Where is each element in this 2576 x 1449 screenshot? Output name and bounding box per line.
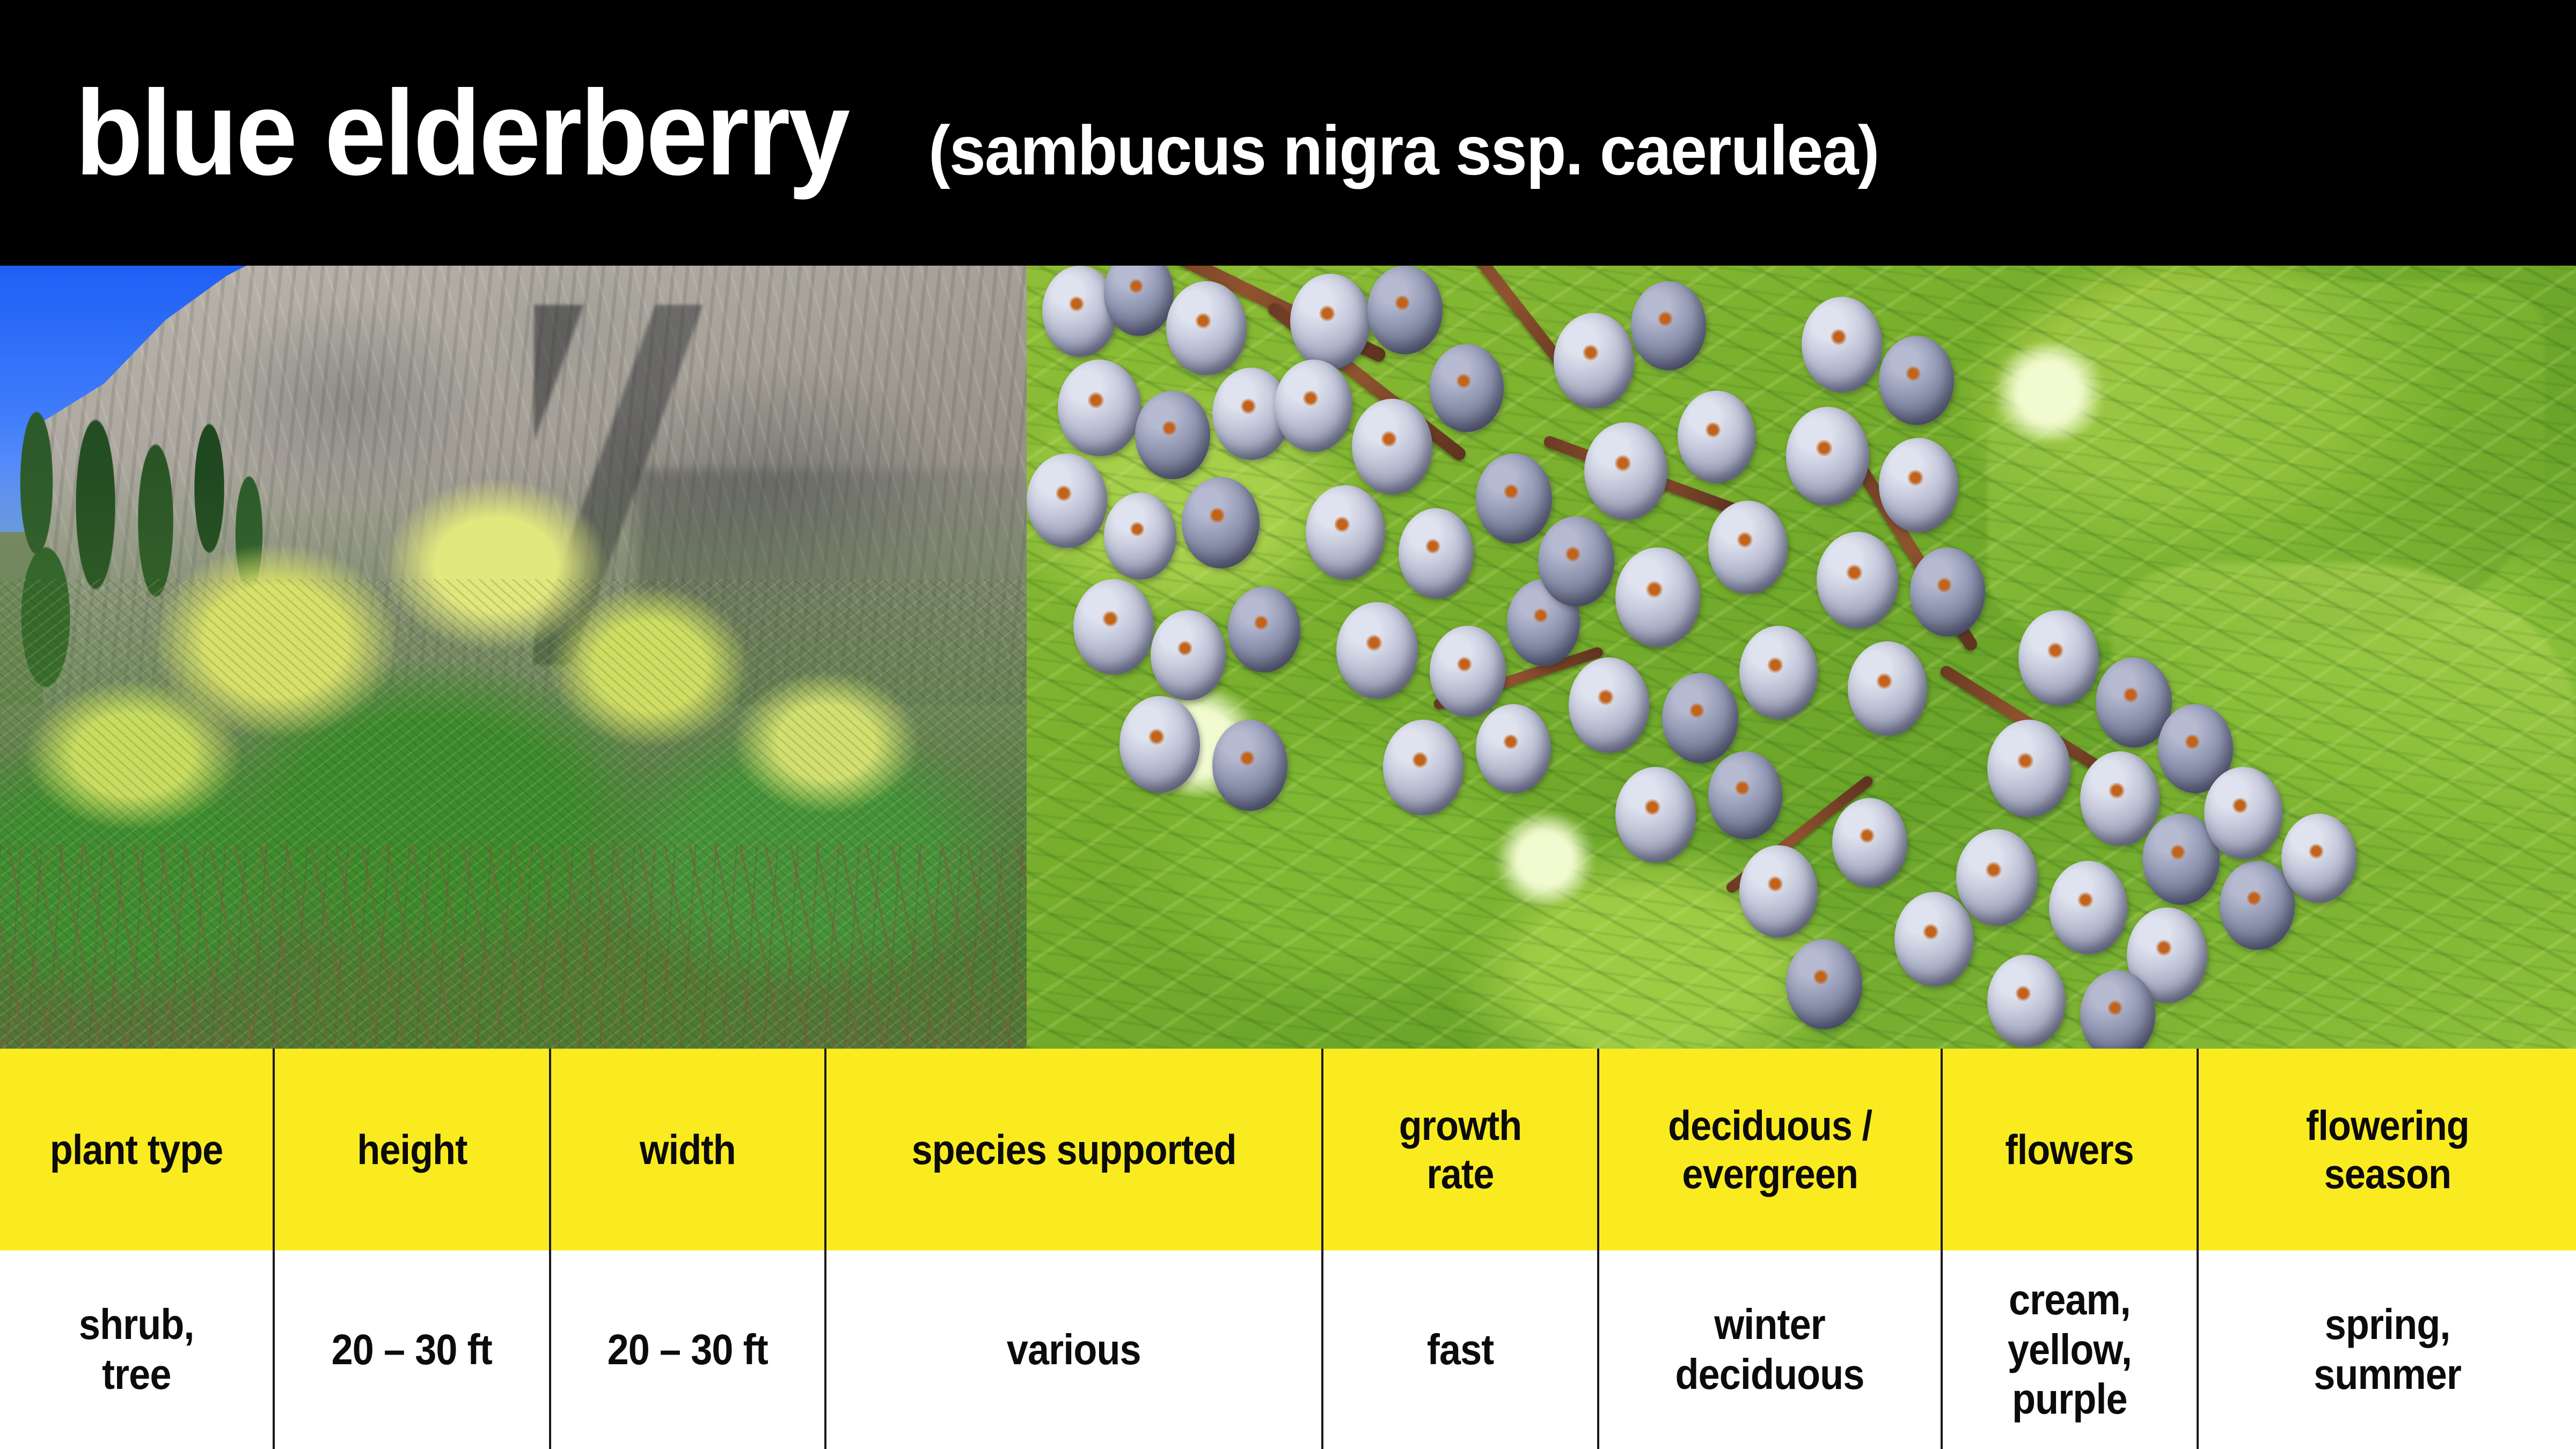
berry bbox=[1135, 391, 1210, 479]
column-header-deciduous-evergreen: deciduous / evergreen bbox=[1599, 1049, 1941, 1250]
berry bbox=[1739, 845, 1818, 938]
berry bbox=[1476, 453, 1552, 544]
berry bbox=[1336, 602, 1418, 699]
column-header-label: growth rate bbox=[1399, 1101, 1522, 1198]
column-header-label: width bbox=[640, 1125, 736, 1174]
column-header-width: width bbox=[551, 1049, 824, 1250]
table-cell-value: shrub, tree bbox=[79, 1300, 194, 1400]
berry bbox=[1058, 360, 1141, 456]
title-wrap: blue elderberry (sambucus nigra ssp. cae… bbox=[0, 72, 1939, 193]
table-column-growth-rate: growth rate fast bbox=[1323, 1049, 1599, 1449]
elderberry-berries-photo bbox=[1027, 266, 2576, 1049]
berry bbox=[1631, 281, 1706, 370]
table-cell-value: spring, summer bbox=[2314, 1300, 2461, 1400]
column-header-flowering-season: flowering season bbox=[2199, 1049, 2576, 1250]
berry bbox=[1817, 532, 1898, 628]
column-header-label: species supported bbox=[912, 1125, 1236, 1174]
berry bbox=[1879, 438, 1958, 532]
table-column-plant-type: plant type shrub, tree bbox=[0, 1049, 275, 1449]
berry bbox=[1678, 391, 1755, 483]
table-cell-species-supported: various bbox=[826, 1250, 1321, 1449]
berry bbox=[1166, 281, 1247, 375]
berry bbox=[1538, 516, 1614, 606]
berry bbox=[1476, 704, 1551, 793]
column-header-label: flowers bbox=[2006, 1125, 2134, 1174]
column-header-label: deciduous / evergreen bbox=[1668, 1101, 1872, 1198]
berry bbox=[1275, 360, 1352, 452]
table-column-flowers: flowers cream, yellow, purple bbox=[1943, 1049, 2199, 1449]
table-cell-height: 20 – 30 ft bbox=[275, 1250, 549, 1449]
column-header-species-supported: species supported bbox=[826, 1049, 1321, 1250]
berry bbox=[1786, 407, 1869, 506]
berry bbox=[1910, 547, 1985, 636]
column-header-growth-rate: growth rate bbox=[1323, 1049, 1597, 1250]
table-cell-value: cream, yellow, purple bbox=[2008, 1275, 2132, 1424]
berry bbox=[2204, 767, 2282, 859]
table-cell-value: 20 – 30 ft bbox=[332, 1325, 492, 1375]
column-header-label: flowering season bbox=[2306, 1101, 2469, 1198]
column-header-flowers: flowers bbox=[1943, 1049, 2197, 1250]
berry bbox=[1290, 274, 1371, 369]
berry bbox=[1151, 610, 1226, 700]
berry bbox=[1104, 493, 1176, 580]
berry bbox=[1352, 399, 1432, 494]
table-cell-width: 20 – 30 ft bbox=[551, 1250, 824, 1449]
table-cell-deciduous-evergreen: winter deciduous bbox=[1599, 1250, 1941, 1449]
berry bbox=[1739, 626, 1818, 719]
attributes-table: plant type shrub, tree height 20 – 30 ft… bbox=[0, 1049, 2576, 1449]
berry bbox=[1182, 477, 1260, 568]
scientific-name: (sambucus nigra ssp. caerulea) bbox=[928, 115, 1879, 185]
berry bbox=[1615, 547, 1700, 647]
elderberry-shrub-photo bbox=[0, 266, 1027, 1049]
berry bbox=[1894, 892, 1974, 986]
light-glow bbox=[1491, 814, 1599, 905]
column-header-label: plant type bbox=[50, 1125, 223, 1174]
berry bbox=[1073, 579, 1154, 675]
berry bbox=[1956, 829, 2038, 926]
table-cell-growth-rate: fast bbox=[1323, 1250, 1597, 1449]
berry bbox=[1802, 297, 1882, 392]
berry bbox=[1987, 720, 2070, 817]
column-header-plant-type: plant type bbox=[0, 1049, 273, 1250]
table-column-flowering-season: flowering season spring, summer bbox=[2199, 1049, 2576, 1449]
berry bbox=[1383, 720, 1463, 815]
table-cell-value: various bbox=[1007, 1325, 1141, 1375]
berry bbox=[1306, 485, 1385, 580]
berry bbox=[1615, 767, 1696, 862]
berry bbox=[1832, 798, 1907, 887]
table-column-height: height 20 – 30 ft bbox=[275, 1049, 551, 1449]
berry bbox=[1228, 587, 1300, 672]
berry bbox=[1119, 696, 1200, 793]
berry bbox=[2281, 814, 2357, 903]
table-column-species-supported: species supported various bbox=[826, 1049, 1323, 1449]
berry bbox=[1584, 422, 1667, 520]
photo-band bbox=[0, 266, 2576, 1049]
table-cell-flowers: cream, yellow, purple bbox=[1943, 1250, 2197, 1449]
berry bbox=[1786, 939, 1862, 1029]
table-cell-value: winter deciduous bbox=[1675, 1300, 1864, 1400]
berry bbox=[1554, 313, 1634, 408]
title-banner: blue elderberry (sambucus nigra ssp. cae… bbox=[0, 0, 2576, 266]
berry bbox=[1212, 720, 1287, 811]
berry bbox=[1027, 453, 1107, 548]
berry bbox=[1569, 657, 1649, 753]
berry bbox=[2080, 751, 2160, 846]
table-column-deciduous-evergreen: deciduous / evergreen winter deciduous bbox=[1599, 1049, 1943, 1449]
column-header-label: height bbox=[357, 1125, 467, 1174]
berry bbox=[1987, 955, 2066, 1047]
plant-info-card: blue elderberry (sambucus nigra ssp. cae… bbox=[0, 0, 2576, 1449]
berry bbox=[1848, 641, 1927, 736]
light-glow bbox=[1987, 344, 2111, 441]
table-cell-value: fast bbox=[1427, 1325, 1494, 1375]
berry bbox=[1708, 501, 1788, 594]
bare-branches bbox=[0, 845, 1027, 1049]
table-column-width: width 20 – 30 ft bbox=[551, 1049, 826, 1449]
berry bbox=[2018, 610, 2099, 706]
page-title: blue elderberry bbox=[75, 72, 848, 193]
berry bbox=[2049, 861, 2127, 954]
berry bbox=[1708, 751, 1782, 839]
berry bbox=[1430, 626, 1506, 717]
table-cell-value: 20 – 30 ft bbox=[608, 1325, 768, 1375]
berry bbox=[1879, 336, 1954, 425]
column-header-height: height bbox=[275, 1049, 549, 1250]
berry bbox=[1430, 344, 1504, 432]
berry bbox=[1662, 673, 1738, 763]
berry bbox=[1367, 266, 1443, 354]
table-cell-plant-type: shrub, tree bbox=[0, 1250, 273, 1449]
table-cell-flowering-season: spring, summer bbox=[2199, 1250, 2576, 1449]
berry bbox=[1399, 508, 1474, 598]
